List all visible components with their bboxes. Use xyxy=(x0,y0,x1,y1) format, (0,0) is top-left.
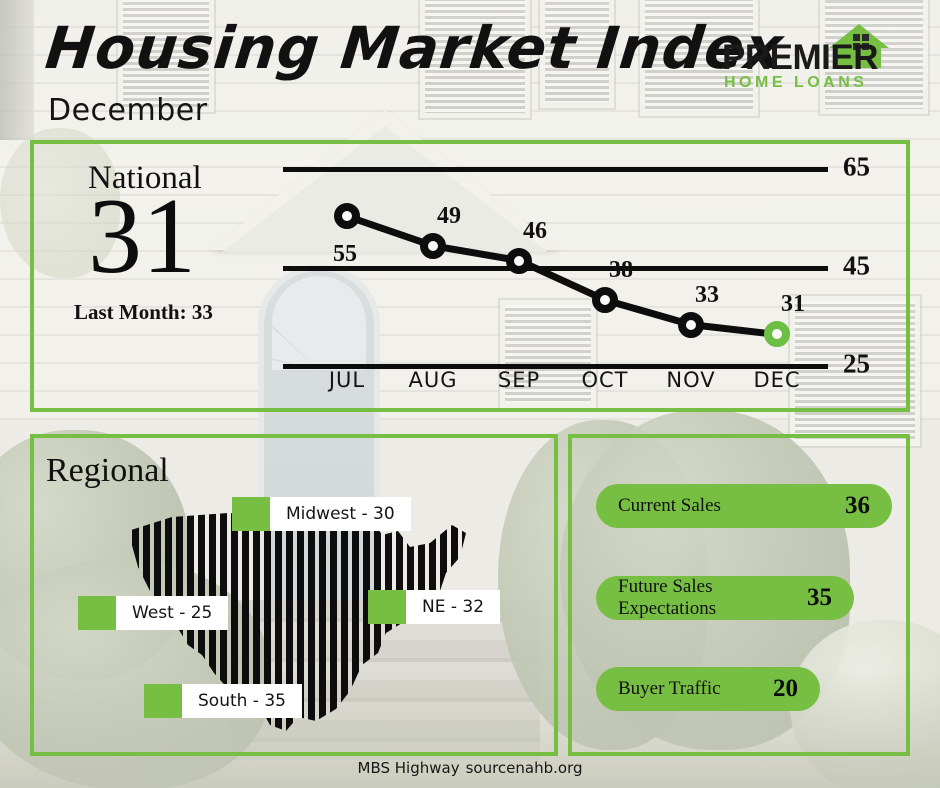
chart-point-dec xyxy=(764,321,790,347)
regional-chip-label: West - 25 xyxy=(116,596,228,630)
footer-source-primary: MBS Highway xyxy=(358,759,460,777)
regional-chip-label: South - 35 xyxy=(182,684,302,718)
chart-point-jul xyxy=(334,203,360,229)
regional-chip-west: West - 25 xyxy=(78,596,228,630)
chart-point-label: 55 xyxy=(333,241,357,268)
chart-point-label: 33 xyxy=(695,282,719,309)
regional-swatch xyxy=(78,596,116,630)
chart-series-line xyxy=(283,150,883,400)
metric-value: 20 xyxy=(773,675,798,703)
metric-label: Current Sales xyxy=(618,495,721,517)
chart-point-nov xyxy=(678,312,704,338)
metric-value: 35 xyxy=(807,584,832,612)
regional-chip-midwest: Midwest - 30 xyxy=(232,497,411,531)
chart-xaxis-label-nov: NOV xyxy=(666,368,715,392)
metric-bar-current-sales: Current Sales 36 xyxy=(596,484,892,528)
metric-value: 36 xyxy=(845,492,870,520)
hmi-line-chart: 65452555JUL49AUG46SEP38OCT33NOV31DEC xyxy=(283,150,883,400)
national-value: 31 xyxy=(88,182,196,292)
regional-chip-south: South - 35 xyxy=(144,684,302,718)
page-subtitle-month: December xyxy=(48,93,208,128)
brand-logo: PREMIER HOME LOANS xyxy=(722,22,902,94)
regional-chip-label: Midwest - 30 xyxy=(270,497,411,531)
page-title: Housing Market Index xyxy=(42,14,787,82)
logo-tagline: HOME LOANS xyxy=(724,74,867,92)
chart-point-label: 38 xyxy=(609,257,633,284)
chart-xaxis-label-jul: JUL xyxy=(329,368,365,392)
chart-xaxis-label-sep: SEP xyxy=(498,368,540,392)
regional-chip-ne: NE - 32 xyxy=(368,590,500,624)
chart-point-oct xyxy=(592,287,618,313)
chart-point-label: 46 xyxy=(523,218,547,245)
chart-xaxis-label-dec: DEC xyxy=(753,368,800,392)
regional-swatch xyxy=(232,497,270,531)
national-last-month: Last Month: 33 xyxy=(74,300,213,325)
regional-swatch xyxy=(368,590,406,624)
chart-point-aug xyxy=(420,233,446,259)
chart-xaxis-label-oct: OCT xyxy=(581,368,628,392)
chart-point-sep xyxy=(506,248,532,274)
chart-point-label: 49 xyxy=(437,203,461,230)
metric-label: Future Sales Expectations xyxy=(618,576,789,620)
footer-source-secondary: sourcenahb.org xyxy=(466,759,583,777)
regional-swatch xyxy=(144,684,182,718)
regional-title: Regional xyxy=(46,452,169,490)
chart-point-label: 31 xyxy=(781,291,805,318)
metric-bar-buyer-traffic: Buyer Traffic 20 xyxy=(596,667,820,711)
logo-wordmark: PREMIER xyxy=(722,38,878,78)
metric-bar-future-sales-expectations: Future Sales Expectations 35 xyxy=(596,576,854,620)
regional-chip-label: NE - 32 xyxy=(406,590,500,624)
chart-xaxis-label-aug: AUG xyxy=(408,368,457,392)
footer-sources: MBS Highwaysourcenahb.org xyxy=(0,759,940,777)
metric-label: Buyer Traffic xyxy=(618,678,721,700)
